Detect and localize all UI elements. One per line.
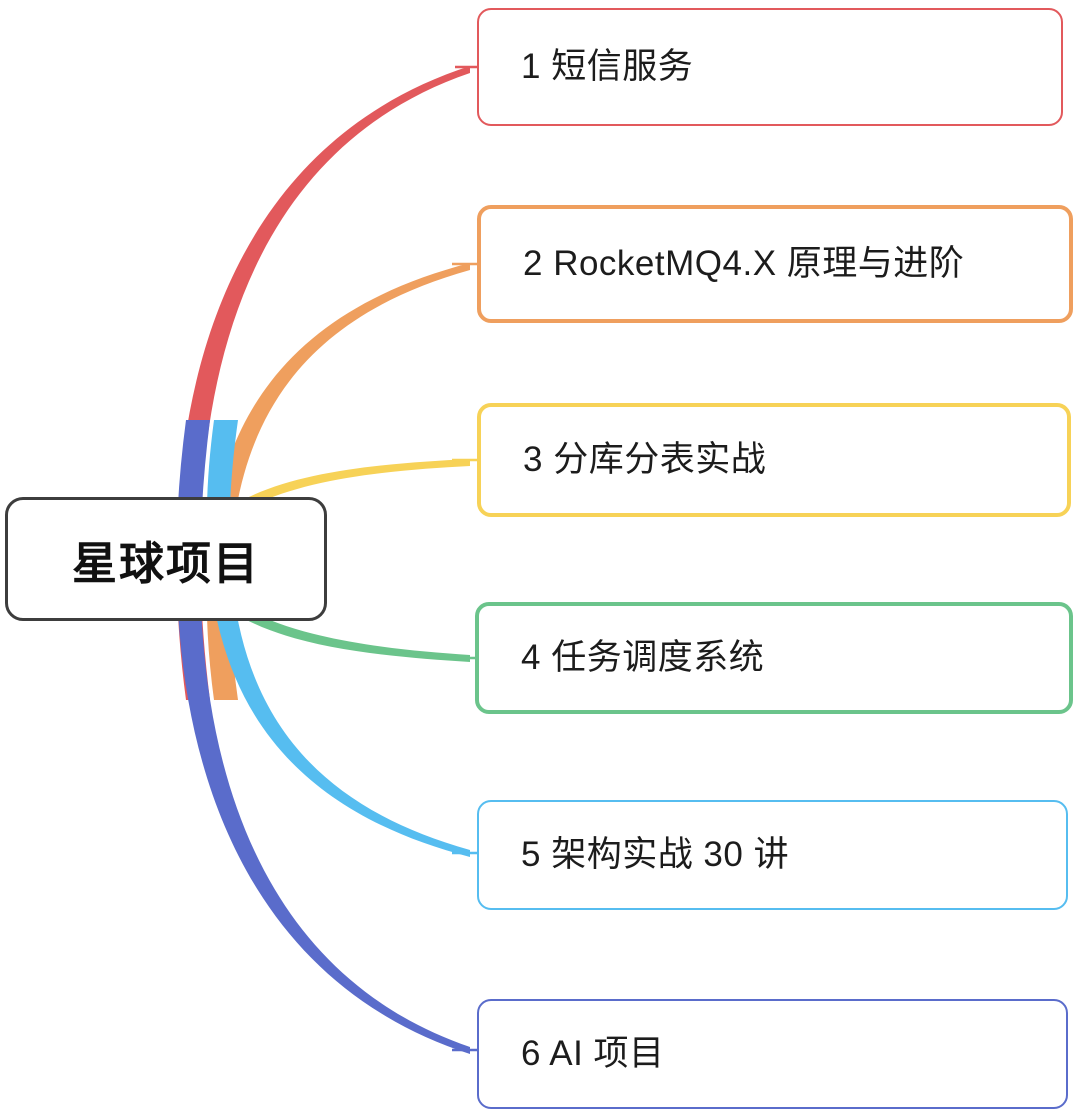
branch-node-4[interactable]: 4 任务调度系统	[475, 602, 1073, 714]
branch-node-1[interactable]: 1 短信服务	[477, 8, 1063, 126]
branch-node-1-label: 1 短信服务	[479, 46, 693, 88]
branch-node-5-label: 5 架构实战 30 讲	[479, 834, 789, 876]
branch-node-2-label: 2 RocketMQ4.X 原理与进阶	[481, 243, 964, 285]
root-node-label: 星球项目	[72, 527, 260, 592]
branch-node-6-label: 6 AI 项目	[479, 1033, 665, 1075]
branch-node-3-label: 3 分库分表实战	[481, 439, 766, 481]
root-node[interactable]: 星球项目	[5, 497, 327, 621]
branch-curve-2	[207, 263, 470, 700]
mindmap-canvas: 星球项目 1 短信服务 2 RocketMQ4.X 原理与进阶 3 分库分表实战…	[0, 0, 1080, 1116]
branch-curve-5	[207, 420, 470, 857]
branch-node-3[interactable]: 3 分库分表实战	[477, 403, 1071, 517]
branch-node-6[interactable]: 6 AI 项目	[477, 999, 1068, 1109]
branch-node-5[interactable]: 5 架构实战 30 讲	[477, 800, 1068, 910]
branch-node-4-label: 4 任务调度系统	[479, 637, 764, 679]
branch-node-2[interactable]: 2 RocketMQ4.X 原理与进阶	[477, 205, 1073, 323]
